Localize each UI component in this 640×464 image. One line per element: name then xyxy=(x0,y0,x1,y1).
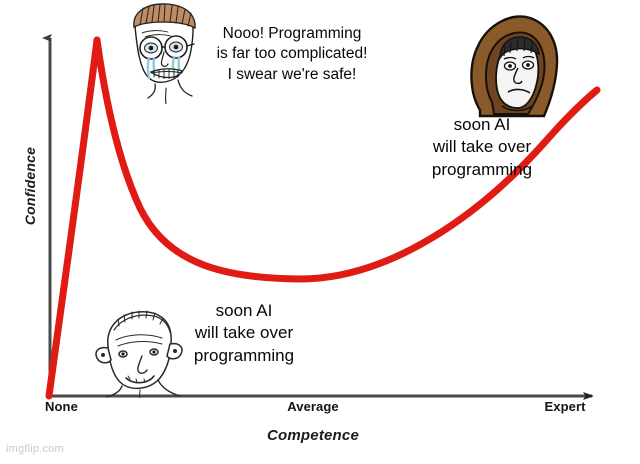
x-tick-expert: Expert xyxy=(528,399,602,414)
imgflip-watermark: imgflip.com xyxy=(6,443,64,455)
hooded-wojak-icon xyxy=(462,6,566,118)
caption-top-text: Nooo! Programming is far too complicated… xyxy=(192,24,392,85)
x-tick-none: None xyxy=(45,399,78,414)
y-axis-title: Confidence xyxy=(22,138,38,234)
caption-right-text: soon AI will take over programming xyxy=(394,114,570,181)
x-axis-title: Competence xyxy=(213,427,413,444)
caption-bottom-text: soon AI will take over programming xyxy=(156,300,332,367)
x-tick-average: Average xyxy=(268,399,358,414)
meme-canvas: Confidence Competence None Average Exper… xyxy=(0,0,640,464)
